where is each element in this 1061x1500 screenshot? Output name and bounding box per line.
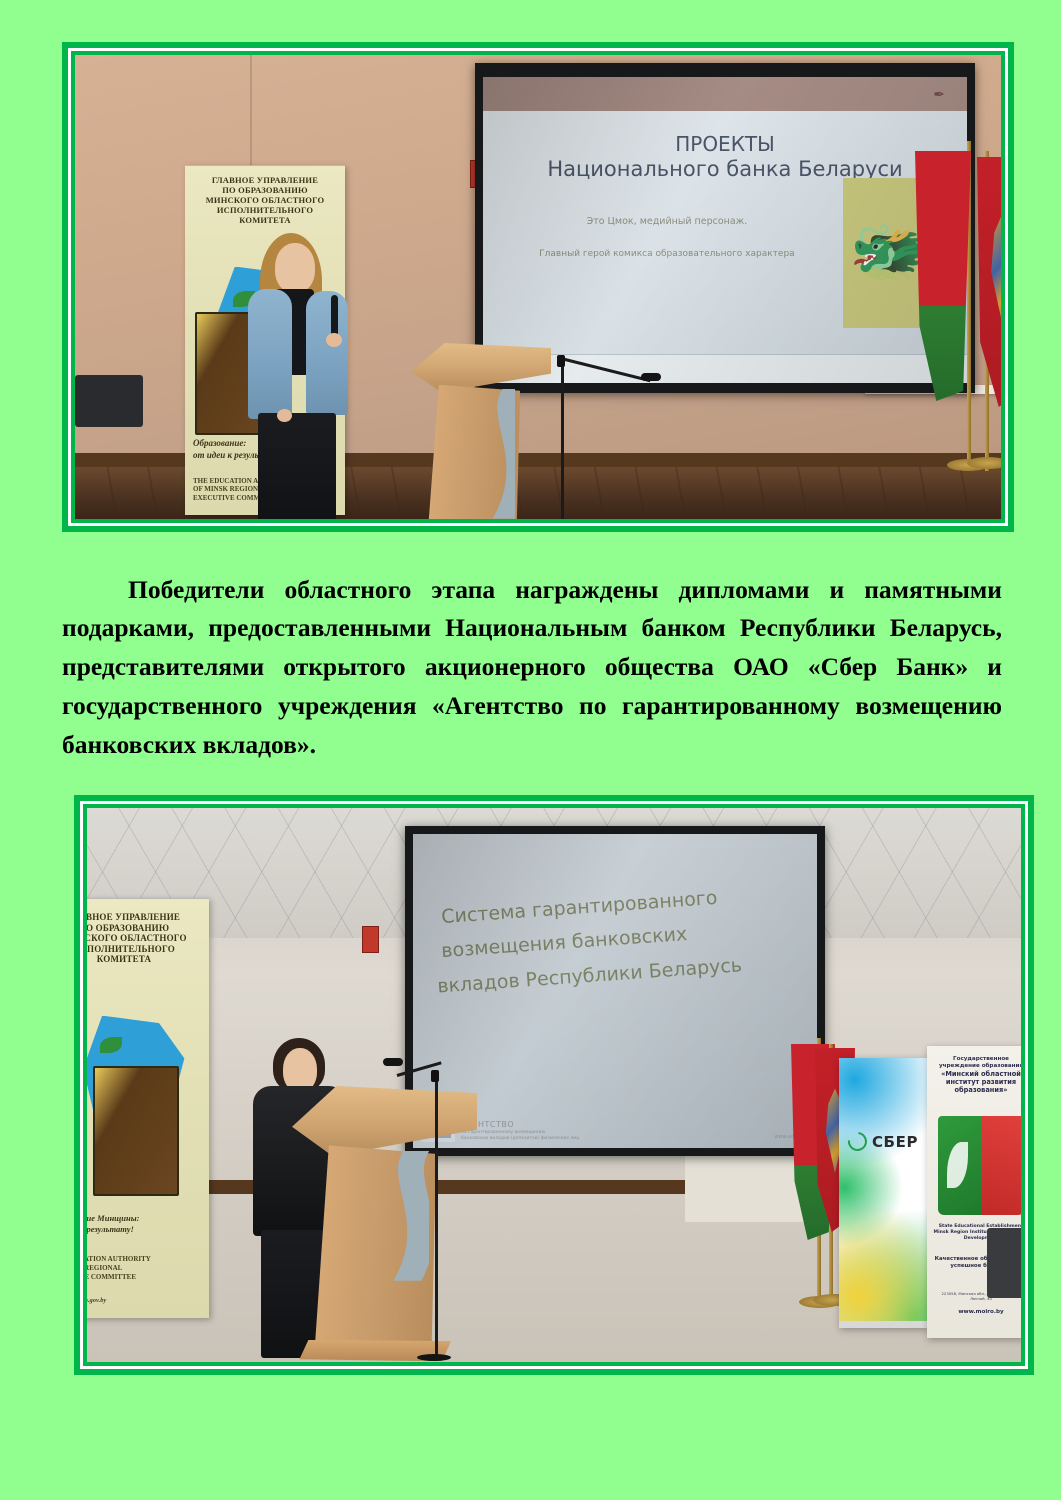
photo-frame-bottom-green-line: Система гарантированного возмещения банк… [83, 804, 1025, 1366]
book-page-right [981, 1116, 1021, 1215]
banner-top-rail [87, 898, 209, 899]
banner-heading-line2: ПО ОБРАЗОВАНИЮ [87, 923, 202, 934]
mic-stand-base [417, 1354, 451, 1361]
slide-footer-bar [483, 354, 967, 383]
photo-frame-top-white-line: ✒ ПРОЕКТЫ Национального банка Беларуси Э… [68, 48, 1008, 526]
banner-heading-line4: ИСПОЛНИТЕЛЬНОГО [87, 944, 202, 955]
chair [75, 375, 143, 427]
banner-slogan-line2: от идеи к результату! [87, 1224, 201, 1235]
banner-english: THE EDUCATION AUTHORITY OF MINSK REGIONA… [87, 1255, 201, 1281]
banner-heading-line4: ИСПОЛНИТЕЛЬНОГО [191, 205, 338, 215]
fire-alarm-box [362, 926, 379, 953]
agency-text: АГЕНТСТВО по гарантированному возмещению… [461, 1120, 579, 1141]
hand-other [277, 409, 292, 422]
microphone-head [383, 1058, 403, 1066]
podium-bottom-photo [292, 1086, 477, 1356]
banner-english-line1: THE EDUCATION AUTHORITY [87, 1255, 201, 1264]
jacket-left [248, 289, 292, 419]
photo-bottom: Система гарантированного возмещения банк… [87, 808, 1021, 1362]
mic-stand-clamp [431, 1070, 439, 1082]
banner-heading-line5: КОМИТЕТА [191, 215, 338, 225]
coat-of-arms-icon [987, 212, 1001, 327]
mic-stand-pole [435, 1070, 438, 1358]
banner-heading-line5: КОМИТЕТА [87, 954, 202, 965]
banner-slogan: Образование Минщины: от идеи к результат… [87, 1213, 201, 1235]
projection-screen-top: ✒ ПРОЕКТЫ Национального банка Беларуси Э… [483, 77, 967, 383]
podium-desk [292, 1086, 477, 1156]
slide-header-bar [483, 77, 967, 111]
banner-education-authority-bottom: ГЛАВНОЕ УПРАВЛЕНИЕ ПО ОБРАЗОВАНИЮ МИНСКО… [87, 898, 209, 1318]
moiro-heading-line1: Государственное [933, 1056, 1021, 1063]
moiro-url: www.moiro.by [933, 1309, 1021, 1315]
banner-english-line2: OF MINSK REGIONAL [87, 1264, 201, 1273]
sber-ring-icon [844, 1128, 871, 1155]
book-page-left [938, 1116, 981, 1215]
moiro-heading-line4: институт развития [933, 1078, 1021, 1086]
flag-emblem-red [963, 151, 1001, 471]
flag-cloth [977, 157, 1001, 407]
open-book-icon [938, 1116, 1021, 1215]
microphone-head [641, 373, 661, 381]
moiro-heading-line2: учреждение образования [933, 1063, 1021, 1070]
slide-subtitle-line2: Главный герой комикса образовательного х… [502, 248, 831, 261]
photo-frame-top: ✒ ПРОЕКТЫ Национального банка Беларуси Э… [62, 42, 1014, 532]
banner-heading: ГЛАВНОЕ УПРАВЛЕНИЕ ПО ОБРАЗОВАНИЮ МИНСКО… [87, 912, 202, 965]
caption-paragraph: Победители областного этапа награждены д… [62, 571, 1002, 765]
photo-frame-top-green-line: ✒ ПРОЕКТЫ Национального банка Беларуси Э… [71, 51, 1005, 523]
photo-top: ✒ ПРОЕКТЫ Национального банка Беларуси Э… [75, 55, 1001, 519]
hand-holding-mic [326, 333, 342, 347]
banner-heading-line1: ГЛАВНОЕ УПРАВЛЕНИЕ [191, 175, 338, 185]
moiro-heading-line3: «Минский областной [933, 1070, 1021, 1078]
photo-frame-bottom: Система гарантированного возмещения банк… [74, 795, 1034, 1375]
banner-heading-line1: ГЛАВНОЕ УПРАВЛЕНИЕ [87, 912, 202, 923]
slide-title-line1: ПРОЕКТЫ [512, 132, 938, 156]
moiro-heading: Государственное учреждение образования «… [933, 1056, 1021, 1094]
banner-heading-line2: ПО ОБРАЗОВАНИЮ [191, 185, 338, 195]
mic-stand-pole [561, 355, 564, 519]
sber-wordmark: СБЕР [872, 1133, 918, 1151]
moiro-heading-line5: образования» [933, 1086, 1021, 1094]
jacket-right [306, 291, 348, 415]
banner-top-rail [185, 165, 345, 166]
banner-url: www.minskedu.gov.by [87, 1297, 201, 1305]
leaf-icon [947, 1142, 968, 1188]
slide-corner-mark: ✒ [933, 87, 945, 104]
flag-base [967, 457, 1001, 469]
slide-subtitle-line1: Это Цмок, медийный персонаж. [512, 215, 822, 228]
chair [987, 1228, 1021, 1298]
agency-sub2: банковских вкладов (депозитов) физически… [461, 1136, 579, 1142]
skirt [258, 413, 336, 519]
book-icon [93, 1066, 179, 1196]
photo-frame-bottom-white-line: Система гарантированного возмещения банк… [80, 801, 1028, 1369]
banner-english-line3: EXECUTIVE COMMITTEE [87, 1273, 201, 1282]
face [275, 243, 315, 293]
podium-top-photo [411, 343, 551, 519]
banner-sber: СБЕР [839, 1058, 927, 1328]
speaker-person-top [230, 233, 360, 519]
mic-stand-clamp [557, 355, 565, 367]
podium-desk [411, 343, 551, 392]
banner-heading-line3: МИНСКОГО ОБЛАСТНОГО [191, 195, 338, 205]
sber-logo: СБЕР [848, 1132, 918, 1151]
agency-name: АГЕНТСТВО [461, 1120, 579, 1130]
banner-heading-line3: МИНСКОГО ОБЛАСТНОГО [87, 933, 202, 944]
banner-heading: ГЛАВНОЕ УПРАВЛЕНИЕ ПО ОБРАЗОВАНИЮ МИНСКО… [191, 175, 338, 225]
banner-foot-rail [839, 1321, 927, 1328]
banner-slogan-line1: Образование Минщины: [87, 1213, 201, 1224]
